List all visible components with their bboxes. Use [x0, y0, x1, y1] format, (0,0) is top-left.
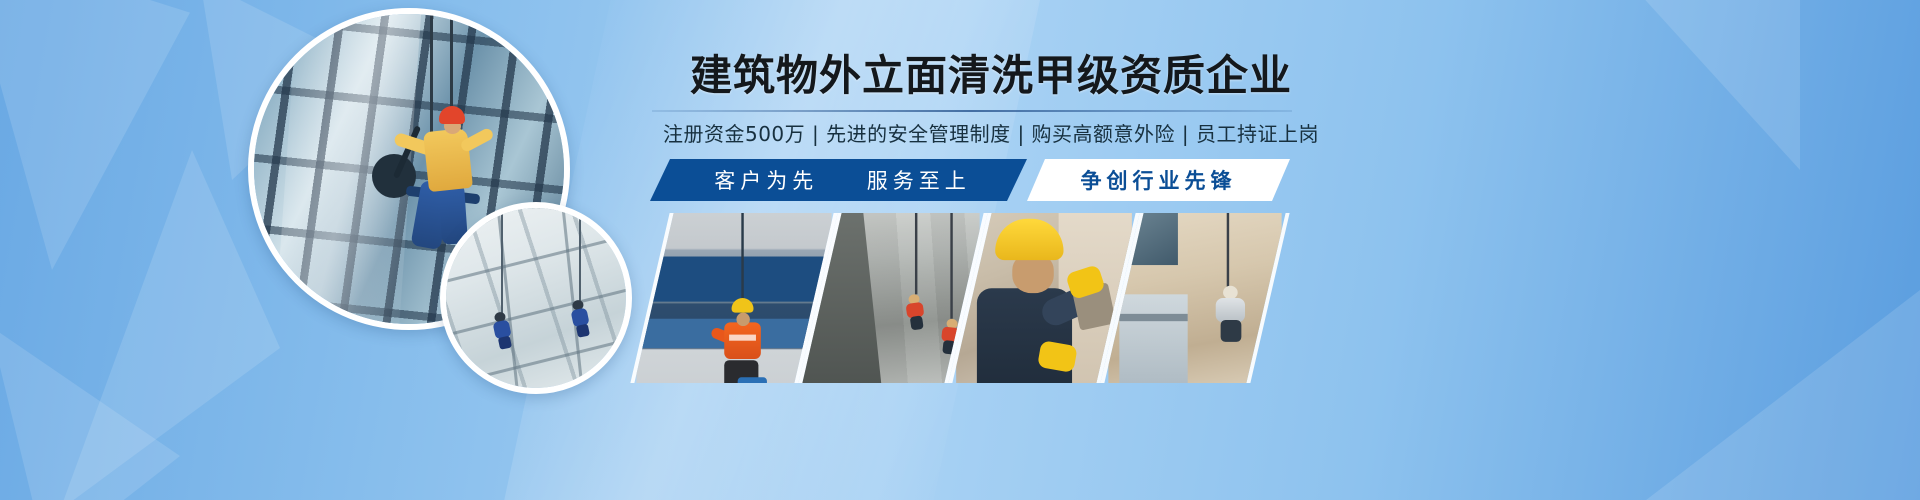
banner-subline: 注册资金500万 | 先进的安全管理制度 | 购买高额意外险 | 员工持证上岗 [648, 118, 1334, 147]
hi-vis-vest [724, 323, 761, 360]
worker-leg [910, 315, 924, 330]
safety-rope [501, 208, 503, 314]
photo-two-workers-facade [446, 208, 626, 388]
photo-strip [650, 213, 1260, 383]
balcony [1119, 294, 1188, 383]
slogan-ribbon: 客户为先 服务至上 争创行业先锋 [650, 159, 1290, 201]
slogan-ribbon-blue: 客户为先 服务至上 [650, 159, 1027, 201]
worker-leg [576, 324, 590, 338]
decorative-triangle [1620, 290, 1920, 500]
slogan-ribbon-white: 争创行业先锋 [1027, 159, 1290, 201]
window-band [636, 257, 831, 303]
worker-torso [423, 128, 473, 192]
photo-circle-small [440, 202, 632, 394]
worker-head [736, 313, 749, 326]
paint-bucket [738, 377, 767, 383]
worker-head [1223, 286, 1238, 299]
safety-rope [950, 213, 952, 319]
slogan-text-1: 客户为先 [714, 165, 818, 195]
safety-rope [742, 213, 744, 310]
worker-leg [1221, 320, 1242, 342]
decorative-triangle [1540, 0, 1800, 170]
worker-leg [942, 340, 956, 355]
headline-underline [652, 110, 1292, 112]
circular-photo-group [0, 0, 640, 500]
photo-worker-residential-balcony [1108, 213, 1281, 383]
photo-worker-orange-vest [636, 213, 831, 383]
slogan-text-3: 争创行业先锋 [1081, 165, 1237, 195]
safety-rope [916, 213, 918, 294]
worker-head [1012, 254, 1053, 293]
banner-headline: 建筑物外立面清洗甲级资质企业 [648, 52, 1334, 99]
slogan-text-2: 服务至上 [867, 165, 971, 195]
safety-rope [1226, 213, 1228, 290]
safety-rope [579, 208, 581, 302]
worker-leg [498, 336, 512, 350]
promo-banner: 建筑物外立面清洗甲级资质企业 注册资金500万 | 先进的安全管理制度 | 购买… [0, 0, 1920, 500]
worker-torso [1216, 298, 1245, 322]
worker-figure [1216, 286, 1245, 340]
